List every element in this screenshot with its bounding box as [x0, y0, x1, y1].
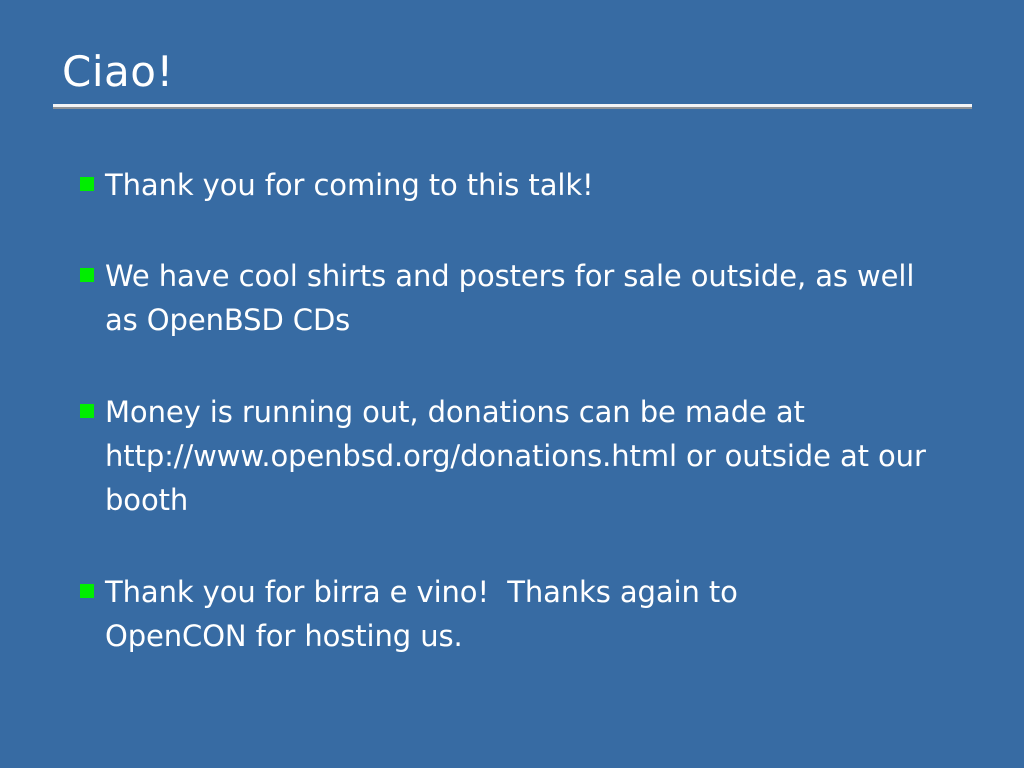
square-bullet-icon — [80, 584, 94, 598]
square-bullet-icon — [80, 177, 94, 191]
title-divider-shadow — [53, 107, 972, 109]
list-item-text: Thank you for birra e vino! Thanks again… — [105, 570, 805, 658]
title-divider — [53, 104, 972, 109]
presentation-slide: Ciao! Thank you for coming to this talk!… — [0, 0, 1024, 768]
list-item: We have cool shirts and posters for sale… — [80, 254, 960, 342]
square-bullet-icon — [80, 268, 94, 282]
list-item-text: Thank you for coming to this talk! — [105, 163, 960, 207]
list-item-text: Money is running out, donations can be m… — [105, 390, 940, 522]
list-item-text: We have cool shirts and posters for sale… — [105, 254, 915, 342]
square-bullet-icon — [80, 404, 94, 418]
page-title: Ciao! — [53, 46, 972, 98]
list-item: Money is running out, donations can be m… — [80, 390, 960, 522]
bullet-list: Thank you for coming to this talk! We ha… — [80, 163, 960, 658]
slide-title-block: Ciao! — [53, 46, 972, 98]
list-item: Thank you for birra e vino! Thanks again… — [80, 570, 960, 658]
list-item: Thank you for coming to this talk! — [80, 163, 960, 207]
